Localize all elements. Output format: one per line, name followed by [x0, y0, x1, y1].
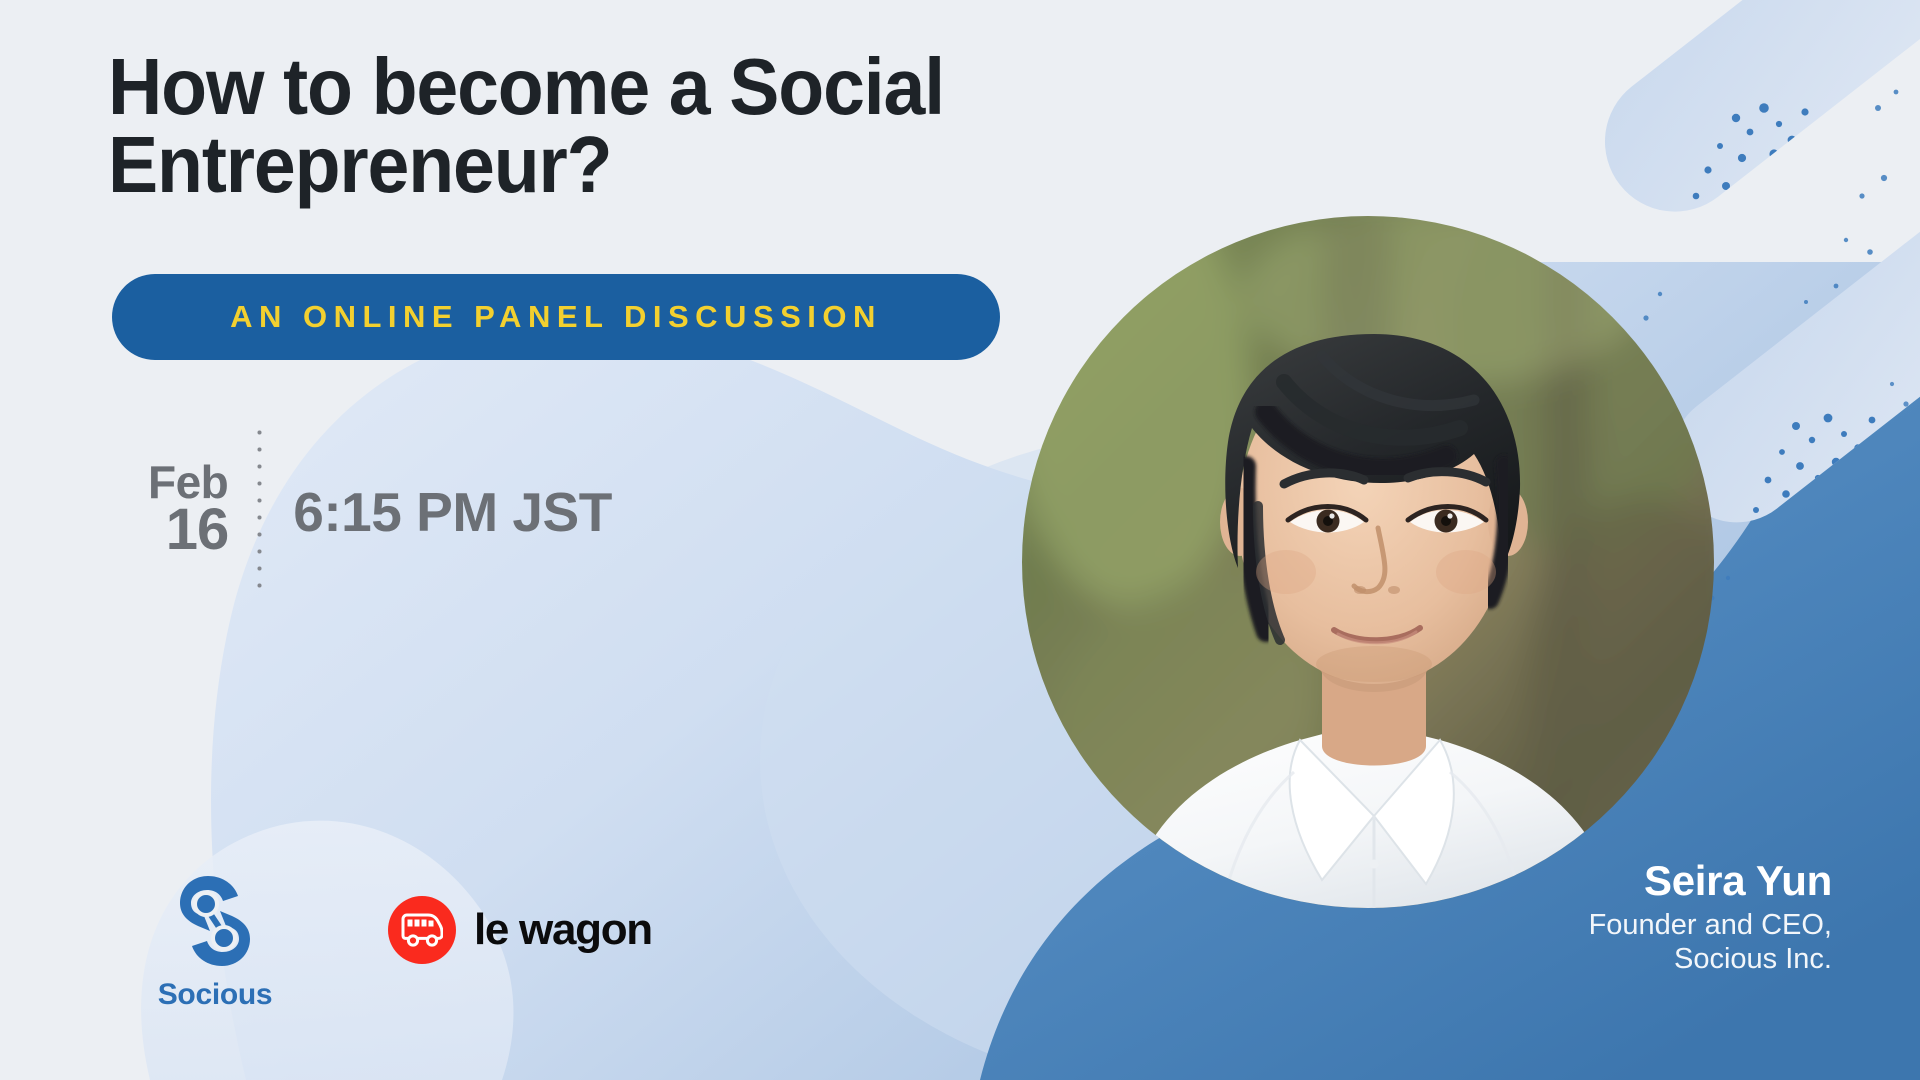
- speaker-role: Founder and CEO, Socious Inc.: [1589, 908, 1832, 976]
- le-wagon-badge: [388, 896, 456, 964]
- socious-wordmark: Socious: [150, 978, 280, 1012]
- le-wagon-bus-icon: [401, 913, 443, 947]
- socious-logo: Socious: [150, 872, 280, 1012]
- dotted-divider: [256, 424, 263, 594]
- event-time: 6:15 PM JST: [293, 480, 612, 544]
- event-day: 16: [166, 501, 229, 559]
- speaker-role-line-1: Founder and CEO,: [1589, 908, 1832, 942]
- panel-discussion-badge: AN ONLINE PANEL DISCUSSION: [112, 274, 1000, 360]
- speaker-caption: Seira Yun Founder and CEO, Socious Inc.: [1589, 858, 1832, 977]
- event-datetime: Feb 16 6:15 PM JST: [148, 424, 612, 594]
- socious-s-mark: [176, 872, 254, 970]
- headline-line-1: How to become a Social: [108, 48, 1048, 126]
- le-wagon-wordmark: le wagon: [474, 905, 652, 955]
- event-date: Feb 16: [148, 459, 228, 559]
- speaker-name: Seira Yun: [1589, 858, 1832, 904]
- page-title: How to become a Social Entrepreneur?: [108, 48, 1048, 203]
- headline-line-2: Entrepreneur?: [108, 126, 1048, 204]
- badge-label: AN ONLINE PANEL DISCUSSION: [230, 299, 882, 335]
- speaker-portrait: [1022, 216, 1714, 908]
- le-wagon-logo: le wagon: [388, 896, 652, 964]
- speaker-role-line-2: Socious Inc.: [1589, 942, 1832, 976]
- poster-canvas: How to become a Social Entrepreneur? AN …: [0, 0, 1920, 1080]
